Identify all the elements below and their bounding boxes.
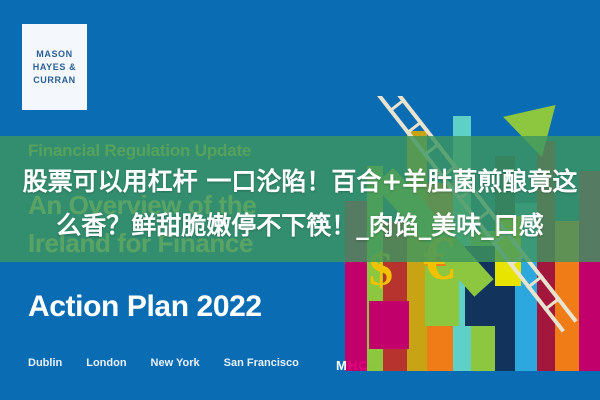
logo-line-2: HAYES & [33,62,76,72]
mason-hayes-curran-logo: MASON HAYES & CURRAN [22,24,87,110]
wordmark-hc: HC [348,358,369,373]
wordmark-m: M [336,358,348,373]
mhc-ie-wordmark: M HC .ie [336,358,379,373]
logo-line-3: CURRAN [33,75,76,85]
overlay-caption-line-1: 股票可以用杠杆 一口沦陷！百合+羊肚菌煎酿竟这 [0,160,600,204]
overlay-caption: 股票可以用杠杆 一口沦陷！百合+羊肚菌煎酿竟这 么香？鲜甜脆嫩停不下筷！_肉馅_… [0,160,600,248]
office-city: San Francisco [224,357,299,369]
poster-headline: Action Plan 2022 [28,290,262,324]
logo-line-1: MASON [36,49,73,59]
wordmark-ie-suffix: .ie [369,362,379,372]
artwork-shape [369,301,409,349]
overlay-caption-line-2: 么香？鲜甜脆嫩停不下筷！_肉馅_美味_口感 [0,204,600,248]
office-city: Dublin [28,357,62,369]
office-city-list: DublinLondonNew YorkSan Francisco [28,357,299,369]
office-city: New York [151,357,200,369]
office-city: London [86,357,126,369]
poster-screenshot: € $ MASON HAYES & CURRAN Financial Regul… [0,0,600,400]
